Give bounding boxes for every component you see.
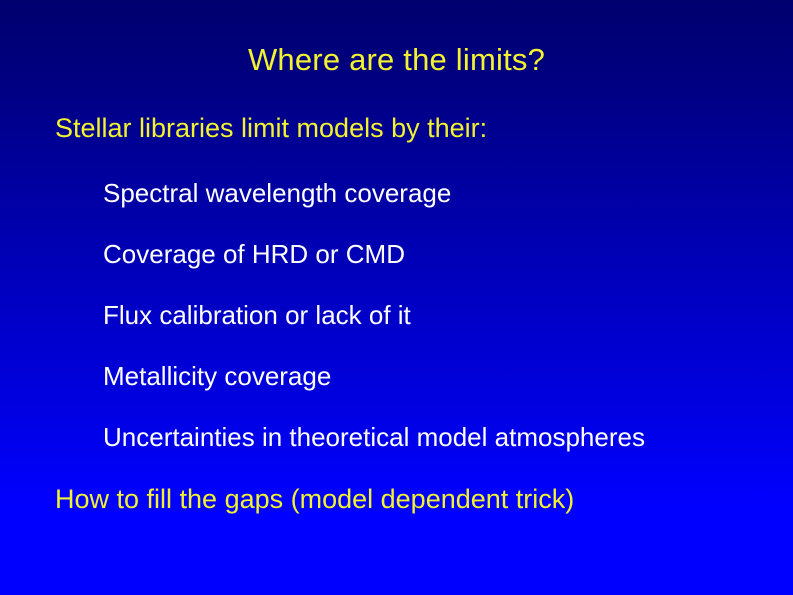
- presentation-slide: Where are the limits? Stellar libraries …: [0, 0, 793, 595]
- bullet-item: Uncertainties in theoretical model atmos…: [103, 424, 645, 450]
- outro-line: How to fill the gaps (model dependent tr…: [55, 486, 574, 513]
- intro-line: Stellar libraries limit models by their:: [55, 115, 487, 142]
- bullet-item: Spectral wavelength coverage: [103, 180, 451, 206]
- slide-body: Stellar libraries limit models by their:…: [0, 0, 793, 595]
- bullet-item: Coverage of HRD or CMD: [103, 241, 405, 267]
- bullet-item: Metallicity coverage: [103, 363, 331, 389]
- bullet-item: Flux calibration or lack of it: [103, 302, 411, 328]
